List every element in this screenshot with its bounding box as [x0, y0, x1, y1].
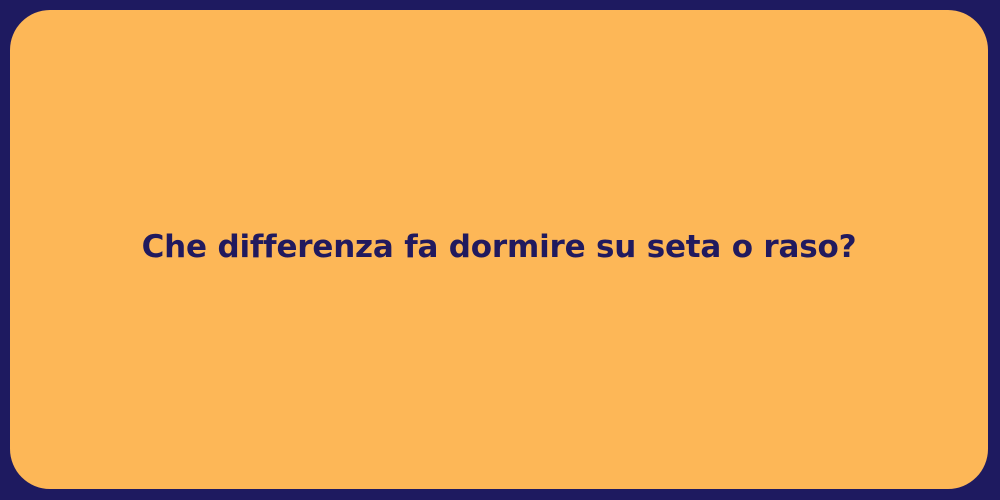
- question-card: Che differenza fa dormire su seta o raso…: [10, 10, 988, 489]
- page-title: Che differenza fa dormire su seta o raso…: [142, 228, 857, 267]
- question-card-content: Che differenza fa dormire su seta o raso…: [10, 230, 988, 269]
- page-root: Che differenza fa dormire su seta o raso…: [0, 0, 1000, 500]
